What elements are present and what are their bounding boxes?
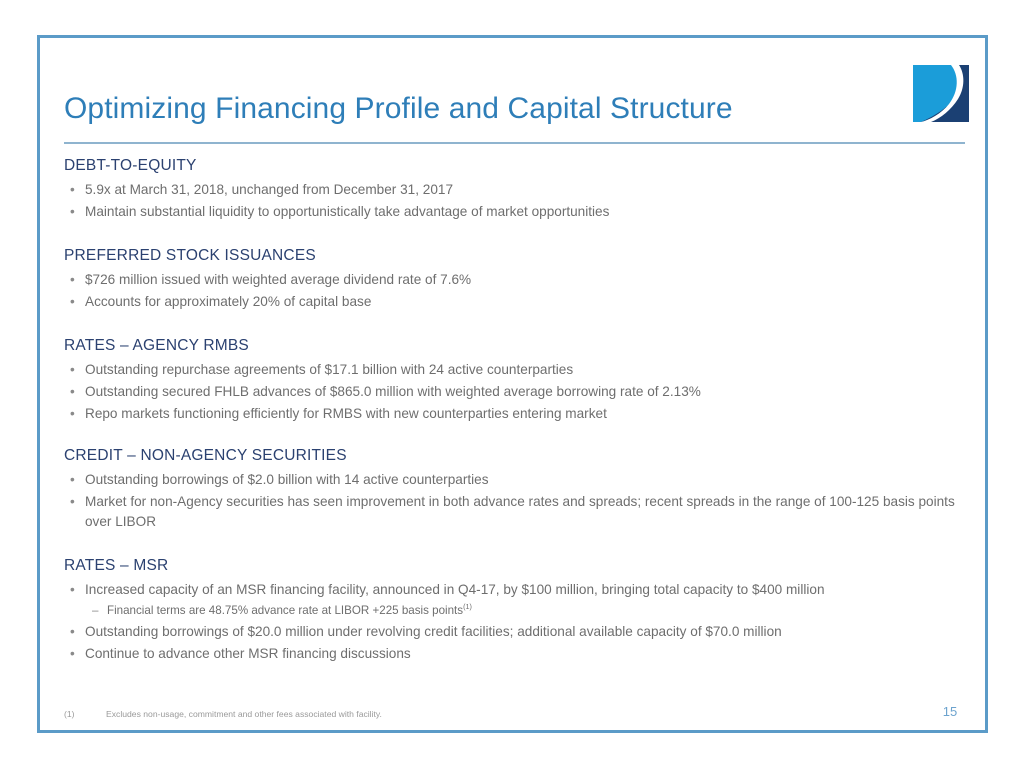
bullet-dot-icon: • [70,470,75,490]
bullet-dot-icon: • [70,202,75,222]
section-heading: CREDIT – NON-AGENCY SECURITIES [64,447,974,465]
bullet-text: $726 million issued with weighted averag… [85,272,471,287]
bullet-text: 5.9x at March 31, 2018, unchanged from D… [85,182,453,197]
bullet-text: Outstanding borrowings of $2.0 billion w… [85,472,489,487]
bullet-dot-icon: • [70,292,75,312]
section-heading: DEBT-TO-EQUITY [64,157,974,175]
slide-body: DEBT-TO-EQUITY • 5.9x at March 31, 2018,… [0,0,1024,768]
bullet-item: • Outstanding repurchase agreements of $… [64,360,974,380]
bullet-item: • Accounts for approximately 20% of capi… [64,292,974,312]
section-rates-agency-rmbs: RATES – AGENCY RMBS • Outstanding repurc… [64,337,974,426]
section-heading: RATES – MSR [64,557,974,575]
bullet-text: Maintain substantial liquidity to opport… [85,204,609,219]
sub-bullet-dash-icon: – [92,602,98,620]
sub-bullet-text: Financial terms are 48.75% advance rate … [107,604,463,617]
bullet-text: Accounts for approximately 20% of capita… [85,294,371,309]
bullet-item: • Continue to advance other MSR financin… [64,644,974,664]
footnote-reference: (1) [463,602,472,611]
section-preferred-stock-issuances: PREFERRED STOCK ISSUANCES • $726 million… [64,247,974,314]
presentation-slide: Optimizing Financing Profile and Capital… [0,0,1024,768]
sub-bullet-item: – Financial terms are 48.75% advance rat… [64,602,974,620]
bullet-text: Outstanding borrowings of $20.0 million … [85,624,782,639]
bullet-item: • Repo markets functioning efficiently f… [64,404,974,424]
bullet-dot-icon: • [70,622,75,642]
section-credit-non-agency-securities: CREDIT – NON-AGENCY SECURITIES • Outstan… [64,447,974,534]
bullet-item: • Outstanding borrowings of $2.0 billion… [64,470,974,490]
bullet-item: • Maintain substantial liquidity to oppo… [64,202,974,222]
bullet-item: • $726 million issued with weighted aver… [64,270,974,290]
bullet-item: • Market for non-Agency securities has s… [64,492,974,531]
section-rates-msr: RATES – MSR • Increased capacity of an M… [64,557,974,666]
bullet-dot-icon: • [70,382,75,402]
section-heading: RATES – AGENCY RMBS [64,337,974,355]
bullet-text: Market for non-Agency securities has see… [85,494,955,529]
page-number: 15 [930,704,970,719]
bullet-text: Repo markets functioning efficiently for… [85,406,607,421]
bullet-dot-icon: • [70,580,75,600]
bullet-dot-icon: • [70,180,75,200]
bullet-item: • Increased capacity of an MSR financing… [64,580,974,600]
bullet-text: Outstanding repurchase agreements of $17… [85,362,573,377]
bullet-dot-icon: • [70,492,75,512]
footnote: (1)Excludes non-usage, commitment and ot… [64,709,382,719]
bullet-text: Continue to advance other MSR financing … [85,646,411,661]
footnote-text: Excludes non-usage, commitment and other… [106,709,382,719]
bullet-item: • Outstanding borrowings of $20.0 millio… [64,622,974,642]
bullet-text: Increased capacity of an MSR financing f… [85,582,825,597]
section-debt-to-equity: DEBT-TO-EQUITY • 5.9x at March 31, 2018,… [64,157,974,224]
footnote-marker: (1) [64,709,106,719]
bullet-dot-icon: • [70,360,75,380]
section-heading: PREFERRED STOCK ISSUANCES [64,247,974,265]
bullet-dot-icon: • [70,270,75,290]
bullet-item: • Outstanding secured FHLB advances of $… [64,382,974,402]
bullet-text: Outstanding secured FHLB advances of $86… [85,384,701,399]
bullet-dot-icon: • [70,644,75,664]
bullet-item: • 5.9x at March 31, 2018, unchanged from… [64,180,974,200]
bullet-dot-icon: • [70,404,75,424]
